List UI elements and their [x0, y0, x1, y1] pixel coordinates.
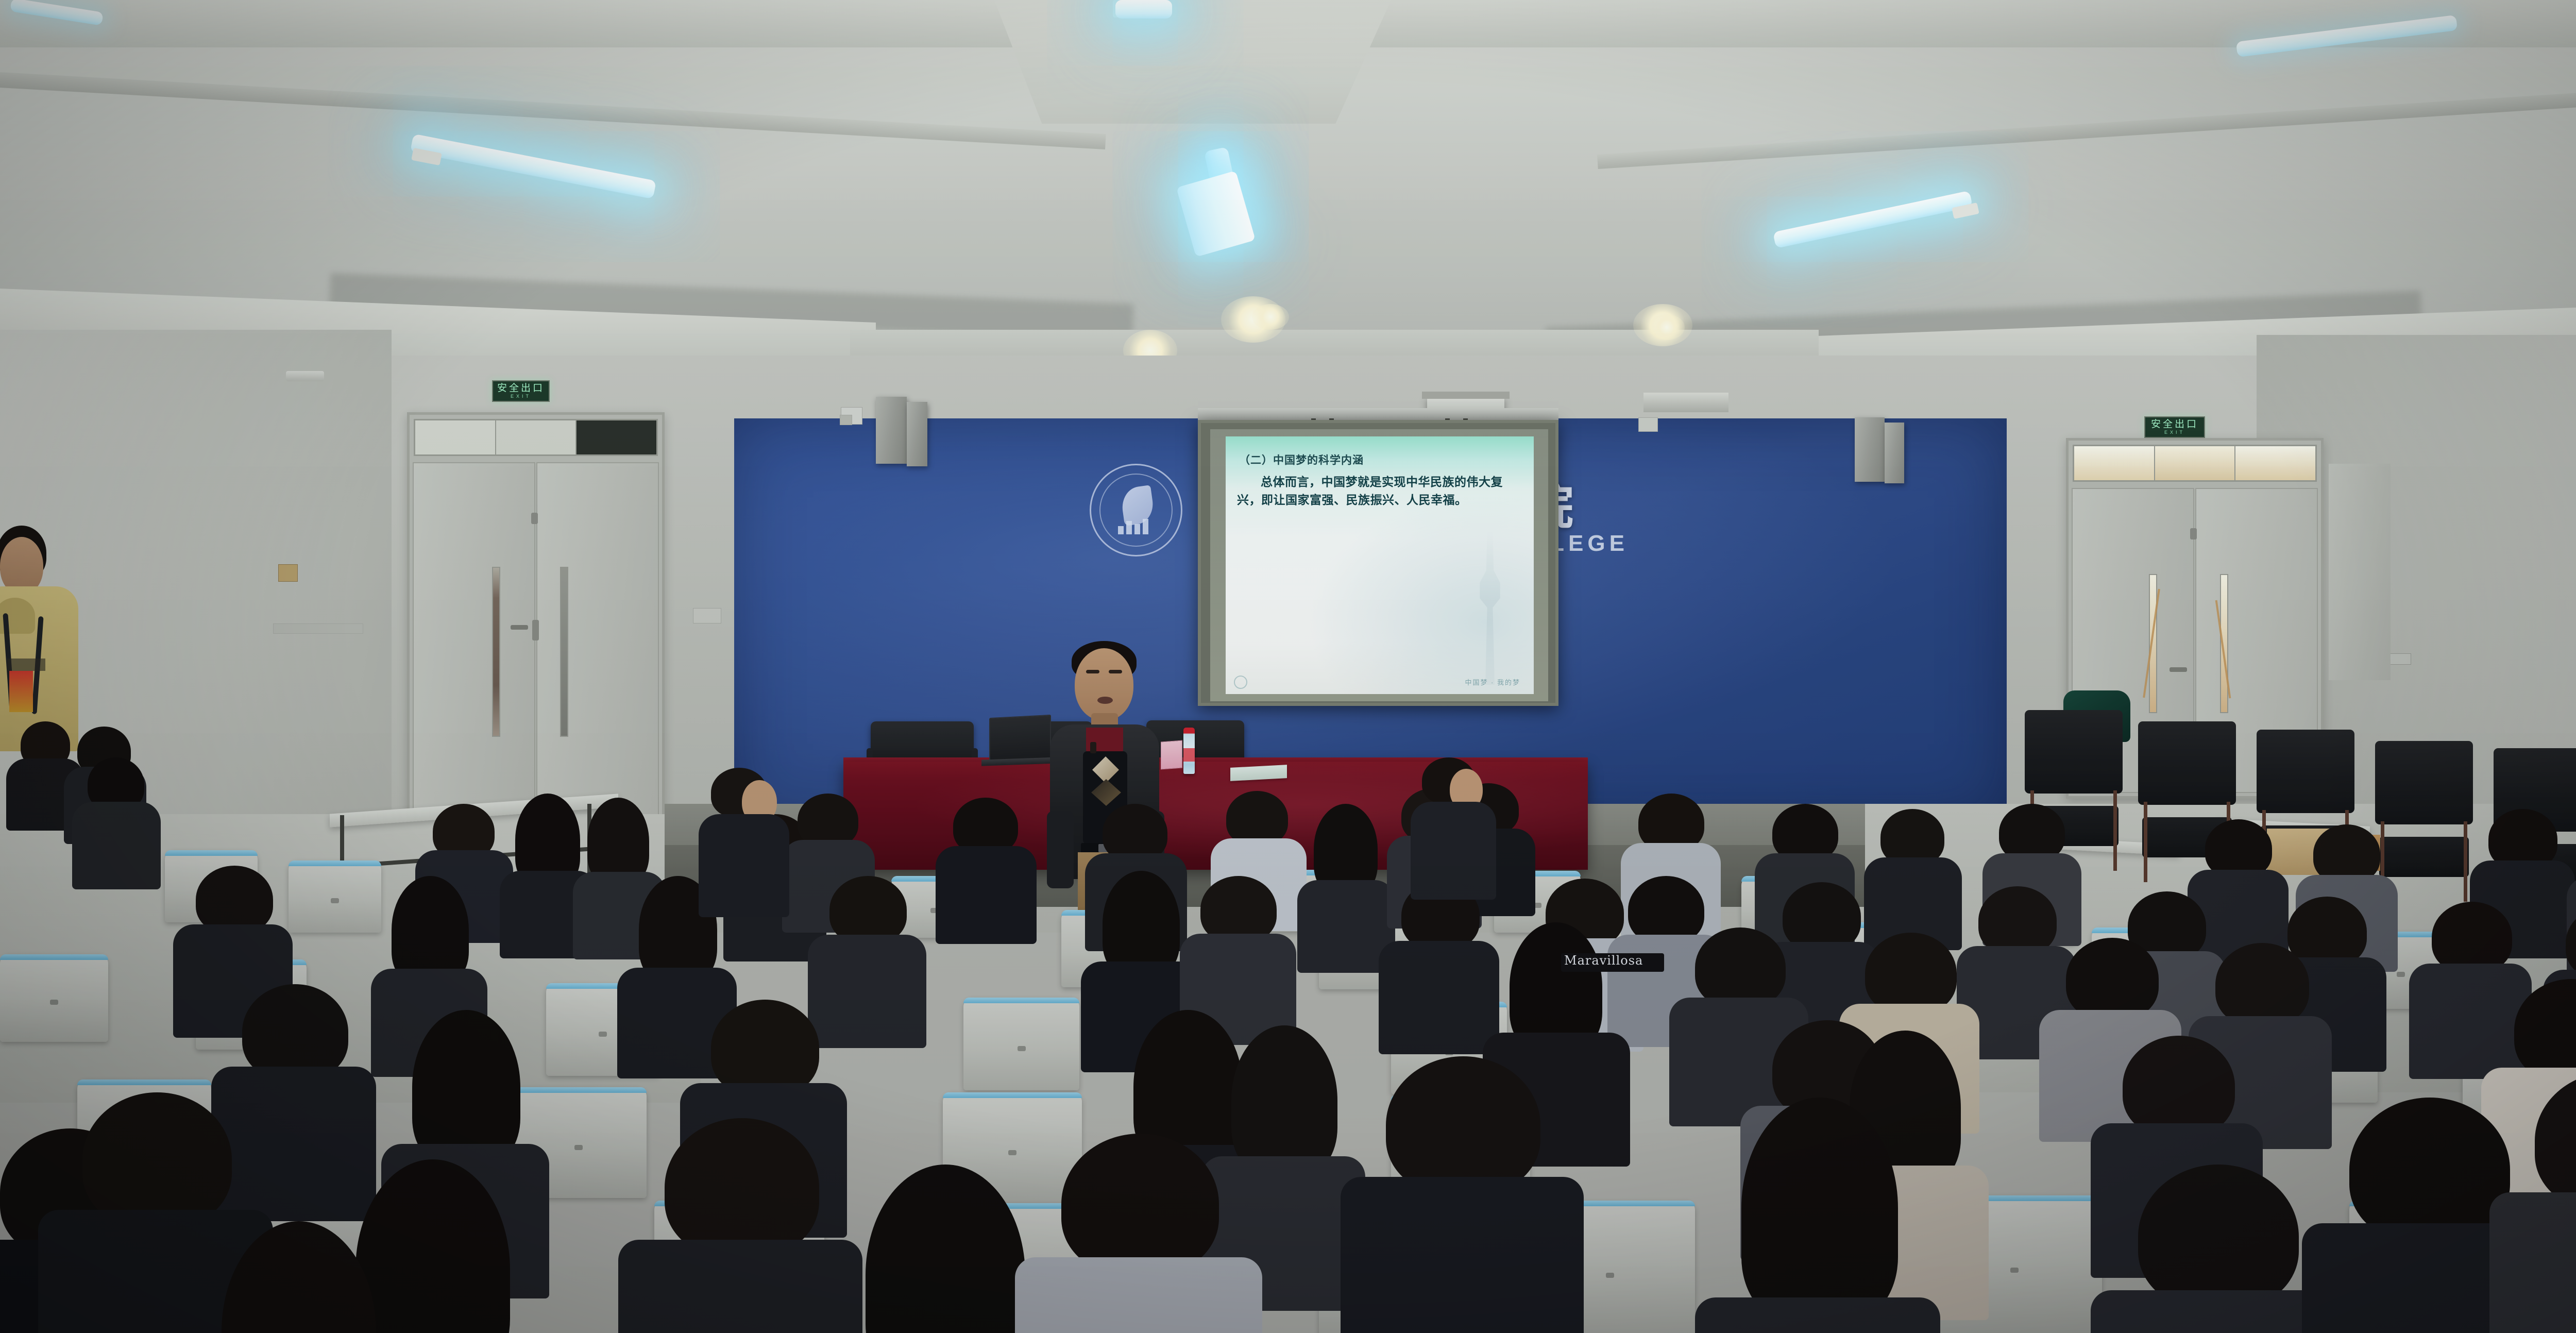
projection-screen: （二）中国梦的科学内涵 总体而言，中国梦就是实现中华民族的伟大复兴，即让国家富强… [1198, 420, 1558, 706]
seat-c3[interactable] [963, 998, 1079, 1090]
door-left-leaf-a[interactable] [413, 462, 535, 834]
ceiling-mount-right [1643, 393, 1728, 412]
slide-watermark-icon [1234, 676, 1247, 689]
slide-heading: （二）中国梦的科学内涵 [1239, 452, 1364, 467]
wall-plate-center [1638, 417, 1658, 432]
water-bottle-label [1183, 748, 1195, 762]
college-emblem-icon [1090, 464, 1182, 556]
wall-speaker-right-side [1885, 423, 1904, 483]
door-left-leaf-b[interactable] [536, 462, 659, 834]
exit-sign-left-chinese: 安全出口 [497, 383, 545, 393]
wall-speaker-right [1855, 417, 1885, 482]
lecture-hall-photo: 学院 L COLLEGE （二）中国梦的科学内涵 总体而言，中国梦就是实现中华民… [0, 0, 2576, 1333]
wall-outlet-left-3 [840, 415, 852, 425]
door-right-window-a [2149, 574, 2157, 713]
wall-outlet-left-2 [693, 608, 721, 623]
projector-bracket [1422, 392, 1510, 399]
door-right-transom [2073, 445, 2317, 482]
wall-speaker-left [876, 397, 907, 464]
door-left-transom [414, 419, 658, 456]
wall-strip-left [273, 623, 363, 634]
exit-sign-right-chinese: 安全出口 [2151, 419, 2198, 429]
right-wall-pillar [2329, 464, 2391, 680]
door-left[interactable] [407, 412, 665, 840]
door-left-handle[interactable] [511, 625, 528, 630]
door-left-window-a [492, 567, 500, 737]
seat-c0[interactable] [0, 954, 108, 1042]
ceiling-coffer-center [994, 0, 1391, 124]
folding-chair-4[interactable] [2375, 741, 2473, 896]
slide-footer: 中国梦 · 我的梦 [1465, 677, 1520, 687]
door-left-deadbolt[interactable] [531, 513, 538, 524]
slide-tower-graphic [1467, 530, 1513, 685]
wall-switch-left [278, 564, 298, 582]
presentation-slide: （二）中国梦的科学内涵 总体而言，中国梦就是实现中华民族的伟大复兴，即让国家富强… [1226, 436, 1534, 694]
door-right-deadbolt[interactable] [2190, 528, 2197, 539]
door-right-window-b [2220, 574, 2228, 713]
door-left-window-b [560, 567, 568, 737]
exit-sign-right: 安全出口 EXIT [2144, 416, 2205, 438]
standing-student-left [0, 526, 95, 747]
projection-screen-surface: （二）中国梦的科学内涵 总体而言，中国梦就是实现中华民族的伟大复兴，即让国家富强… [1210, 429, 1548, 701]
ceiling-downlight-4 [1649, 314, 1685, 340]
smoke-detector [286, 371, 324, 381]
exit-sign-left-english: EXIT [511, 394, 531, 399]
exit-sign-right-english: EXIT [2164, 430, 2185, 435]
wall-speaker-left-side [907, 402, 927, 466]
seat-b1[interactable] [289, 860, 381, 933]
ceiling-light-top [1115, 0, 1172, 19]
exit-sign-left: 安全出口 EXIT [492, 380, 550, 402]
door-right-handle[interactable] [2170, 667, 2187, 672]
ceiling-downlight-5 [1252, 304, 1289, 330]
door-left-lockplate[interactable] [532, 620, 539, 640]
slide-body: 总体而言，中国梦就是实现中华民族的伟大复兴，即让国家富强、民族振兴、人民幸福。 [1237, 474, 1523, 509]
